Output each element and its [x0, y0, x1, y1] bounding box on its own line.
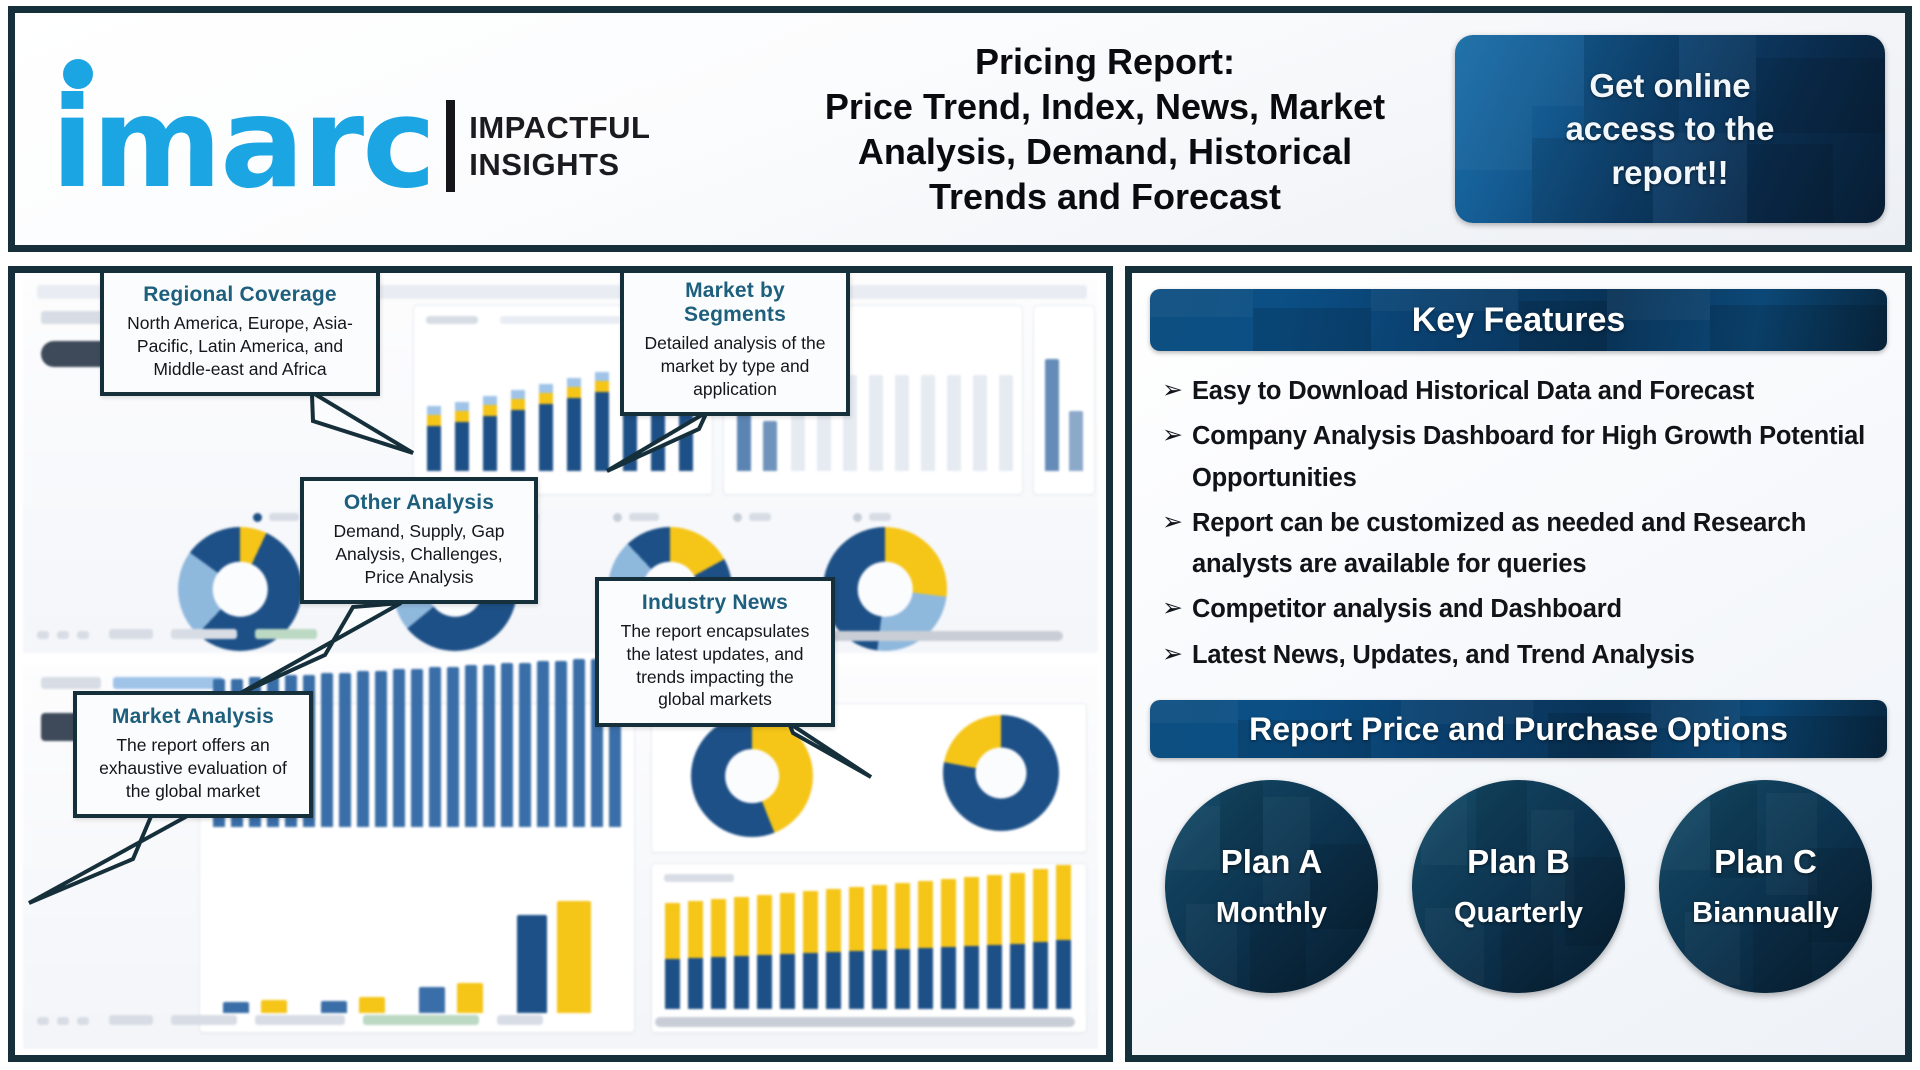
callout-title: Market Analysis	[91, 705, 295, 729]
page-title-line-3: Analysis, Demand, Historical	[785, 129, 1425, 174]
callout-market-analysis: Market Analysis The report offers an exh…	[73, 691, 313, 818]
cta-line-1: Get online	[1565, 64, 1774, 108]
feature-item: ➢ Easy to Download Historical Data and F…	[1162, 371, 1879, 412]
header-band: imarc IMPACTFUL INSIGHTS Pricing Report:…	[8, 6, 1912, 252]
callout-body: North America, Europe, Asia-Pacific, Lat…	[118, 312, 362, 380]
key-features-heading-ribbon: Key Features	[1150, 289, 1887, 351]
feature-text: Easy to Download Historical Data and For…	[1192, 371, 1754, 412]
donut-chart	[943, 715, 1059, 831]
arrow-bullet-icon: ➢	[1162, 589, 1192, 628]
logo-dot-icon	[63, 59, 93, 89]
callout-title: Regional Coverage	[118, 283, 362, 307]
arrow-bullet-icon: ➢	[1162, 503, 1192, 542]
get-online-access-button[interactable]: Get online access to the report!!	[1455, 35, 1885, 223]
arrow-bullet-icon: ➢	[1162, 635, 1192, 674]
logo-tagline-line1: IMPACTFUL	[469, 110, 650, 147]
report-price-heading-ribbon: Report Price and Purchase Options	[1150, 700, 1887, 758]
logo-divider	[446, 100, 455, 192]
features-and-pricing-panel: Key Features ➢ Easy to Download Historic…	[1125, 266, 1912, 1062]
plan-name: Plan C	[1714, 843, 1817, 881]
plan-name: Plan A	[1221, 843, 1322, 881]
feature-item: ➢ Competitor analysis and Dashboard	[1162, 589, 1879, 630]
plan-cycle: Monthly	[1216, 897, 1327, 930]
callout-body: The report offers an exhaustive evaluati…	[91, 734, 295, 802]
callout-tail-market	[25, 803, 215, 913]
callout-market-by-segments: Market by Segments Detailed analysis of …	[620, 266, 850, 416]
feature-item: ➢ Latest News, Updates, and Trend Analys…	[1162, 635, 1879, 676]
plan-name: Plan B	[1467, 843, 1570, 881]
imarc-logo: imarc IMPACTFUL INSIGHTS	[15, 13, 775, 245]
plan-a-option[interactable]: Plan A Monthly	[1165, 780, 1378, 993]
callout-body: Demand, Supply, Gap Analysis, Challenges…	[318, 520, 520, 588]
feature-text: Company Analysis Dashboard for High Grow…	[1192, 416, 1879, 499]
plan-cycle: Biannually	[1692, 897, 1839, 930]
page-title-line-1: Pricing Report:	[785, 39, 1425, 84]
callout-other-analysis: Other Analysis Demand, Supply, Gap Analy…	[300, 477, 538, 604]
plan-texture	[1659, 780, 1872, 993]
cta-container: Get online access to the report!!	[1435, 35, 1905, 223]
callout-industry-news: Industry News The report encapsulates th…	[595, 577, 835, 727]
page-title-line-4: Trends and Forecast	[785, 174, 1425, 219]
logo-wordmark: imarc	[51, 91, 434, 197]
plan-texture	[1165, 780, 1378, 993]
key-features-list: ➢ Easy to Download Historical Data and F…	[1132, 351, 1905, 676]
callout-title: Other Analysis	[318, 491, 520, 515]
callout-body: Detailed analysis of the market by type …	[638, 332, 832, 400]
logo-tagline: IMPACTFUL INSIGHTS	[469, 110, 650, 183]
arrow-bullet-icon: ➢	[1162, 416, 1192, 455]
plan-texture	[1412, 780, 1625, 993]
feature-text: Latest News, Updates, and Trend Analysis	[1192, 635, 1695, 676]
feature-text: Competitor analysis and Dashboard	[1192, 589, 1622, 630]
infographic-page: imarc IMPACTFUL INSIGHTS Pricing Report:…	[0, 0, 1920, 1070]
key-features-title: Key Features	[1412, 301, 1626, 340]
page-title: Pricing Report: Price Trend, Index, News…	[775, 39, 1435, 219]
dashboard-preview-panel: Regional Coverage North America, Europe,…	[8, 266, 1113, 1062]
feature-item: ➢ Company Analysis Dashboard for High Gr…	[1162, 416, 1879, 499]
callout-title: Market by Segments	[638, 279, 832, 327]
logo-tagline-line2: INSIGHTS	[469, 147, 650, 184]
callout-regional-coverage: Regional Coverage North America, Europe,…	[100, 269, 380, 396]
page-title-line-2: Price Trend, Index, News, Market	[785, 84, 1425, 129]
cta-line-2: access to the	[1565, 107, 1774, 151]
cta-line-3: report!!	[1565, 151, 1774, 195]
feature-item: ➢ Report can be customized as needed and…	[1162, 503, 1879, 586]
plan-b-option[interactable]: Plan B Quarterly	[1412, 780, 1625, 993]
callout-body: The report encapsulates the latest updat…	[613, 620, 817, 711]
feature-text: Report can be customized as needed and R…	[1192, 503, 1879, 586]
report-price-title: Report Price and Purchase Options	[1249, 711, 1788, 748]
plan-cycle: Quarterly	[1454, 897, 1583, 930]
callout-title: Industry News	[613, 591, 817, 615]
arrow-bullet-icon: ➢	[1162, 371, 1192, 410]
cta-label: Get online access to the report!!	[1565, 64, 1774, 195]
purchase-plans: Plan A Monthly Plan B Quarterly	[1132, 758, 1905, 993]
plan-c-option[interactable]: Plan C Biannually	[1659, 780, 1872, 993]
